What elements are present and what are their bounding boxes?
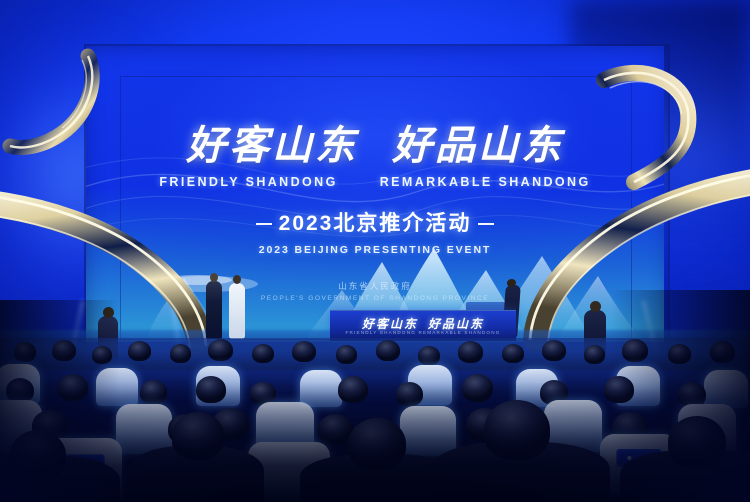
photo-vignette: [0, 0, 750, 502]
event-stage-photo: 好客山东 好品山东 FRIENDLY SHANDONG REMARKABLE S…: [0, 0, 750, 502]
